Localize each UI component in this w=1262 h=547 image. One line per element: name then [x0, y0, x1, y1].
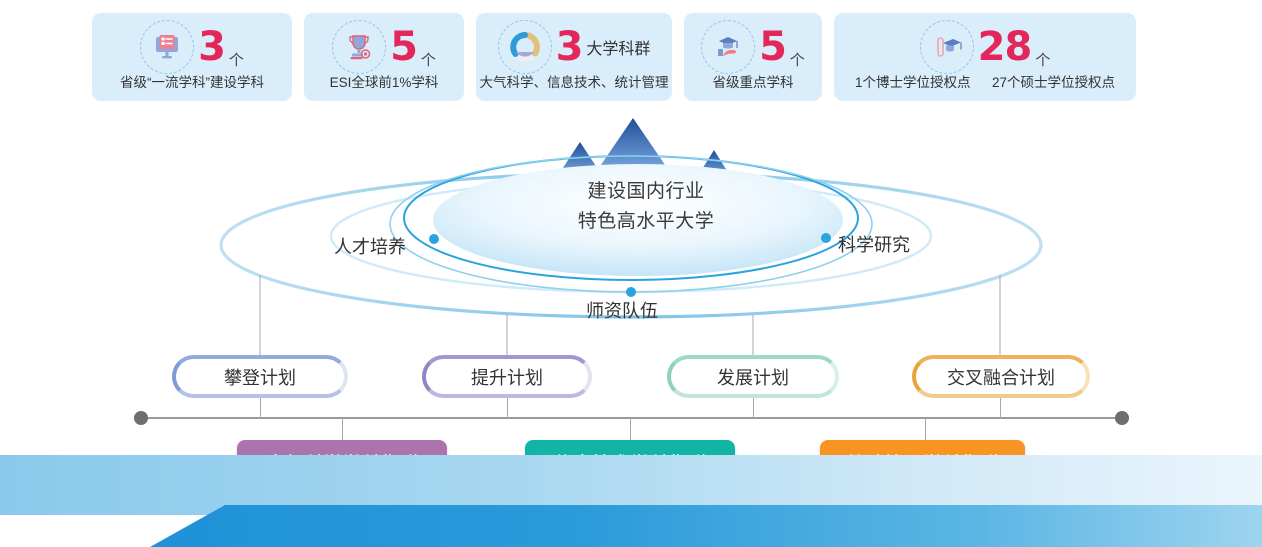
stat-unit: 个 [229, 49, 244, 70]
plan-pill-upgrade[interactable]: 提升计划 [422, 355, 592, 398]
stat-caption: ESI全球前1%学科 [330, 76, 439, 90]
stat-unit: 个 [790, 49, 805, 70]
band-dark-shape [0, 505, 1262, 547]
plan-pill-development[interactable]: 发展计划 [667, 355, 839, 398]
core-vision-line-1: 建设国内行业 [516, 177, 776, 207]
timeline-dot-left [134, 411, 148, 425]
stat-caption: 1个博士学位授权点 27个硕士学位授权点 [855, 76, 1115, 90]
stat-unit: 大学科群 [586, 35, 650, 59]
orbit-label-research: 科学研究 [838, 231, 910, 257]
stat-card-top: 5 个 [701, 19, 805, 75]
stat-unit: 个 [421, 49, 436, 70]
stat-card-row: 3 个 省级“一流学科”建设学科 [92, 13, 1136, 101]
vision-orbit-scene: 建设国内行业 特色高水平大学 人才培养 科学研究 师资队伍 [0, 100, 1262, 360]
orbit-node-faculty [626, 287, 636, 297]
stat-number: 3 [198, 27, 225, 67]
stat-caption: 大气科学、信息技术、统计管理 [480, 76, 669, 90]
orbit-label-faculty: 师资队伍 [586, 297, 658, 323]
stat-caption: 省级“一流学科”建设学科 [120, 76, 264, 90]
stat-card-provincial-key[interactable]: 5 个 省级重点学科 [684, 13, 822, 101]
orbit-node-research [821, 233, 831, 243]
stat-caption-doctoral: 1个博士学位授权点 [855, 75, 971, 90]
stem-plan-2-to-axis [507, 398, 508, 418]
graduation-hand-icon [701, 20, 755, 74]
stem-axis-to-cluster-3 [925, 418, 926, 440]
decorative-band-dark [0, 505, 1262, 547]
stat-number: 5 [390, 27, 417, 67]
trophy-medal-icon [332, 20, 386, 74]
ring-chart-icon [498, 20, 552, 74]
stat-card-top: 3 个 [140, 19, 244, 75]
stat-number: 28 [978, 27, 1032, 67]
timeline-axis [140, 417, 1122, 419]
plan-pill-label: 提升计划 [471, 364, 543, 390]
stat-card-esi-top-1-percent[interactable]: 5 个 ESI全球前1%学科 [304, 13, 464, 101]
stat-caption-master: 27个硕士学位授权点 [992, 75, 1115, 90]
plan-pill-interdisciplinary[interactable]: 交叉融合计划 [912, 355, 1090, 398]
monitor-checklist-icon [140, 20, 194, 74]
stem-plan-3-to-axis [753, 398, 754, 418]
plan-pill-climbing[interactable]: 攀登计划 [172, 355, 348, 398]
orbit-node-talent [429, 234, 439, 244]
diploma-cap-icon [920, 20, 974, 74]
stem-axis-to-cluster-2 [630, 418, 631, 440]
orbit-label-talent: 人才培养 [334, 233, 406, 259]
stat-card-degree-authorization[interactable]: 28 个 1个博士学位授权点 27个硕士学位授权点 [834, 13, 1136, 101]
stat-card-discipline-groups[interactable]: 3 大学科群 大气科学、信息技术、统计管理 [476, 13, 672, 101]
stat-number: 5 [759, 27, 786, 67]
stat-unit: 个 [1035, 49, 1050, 70]
stat-card-top: 5 个 [332, 19, 436, 75]
stat-card-top: 28 个 [920, 19, 1051, 75]
core-vision-line-2: 特色高水平大学 [516, 207, 776, 237]
stem-plan-1-to-axis [260, 398, 261, 418]
stat-number: 3 [556, 27, 583, 67]
core-vision-text: 建设国内行业 特色高水平大学 [516, 177, 776, 237]
stat-card-top: 3 大学科群 [498, 19, 651, 75]
plan-pill-label: 交叉融合计划 [947, 364, 1055, 390]
stat-caption: 省级重点学科 [713, 76, 794, 90]
timeline-dot-right [1115, 411, 1129, 425]
stat-card-provincial-first-class[interactable]: 3 个 省级“一流学科”建设学科 [92, 13, 292, 101]
stem-plan-4-to-axis [1000, 398, 1001, 418]
stem-axis-to-cluster-1 [342, 418, 343, 440]
plan-pill-label: 发展计划 [717, 364, 789, 390]
infographic-canvas: 3 个 省级“一流学科”建设学科 [0, 0, 1262, 547]
plan-pill-label: 攀登计划 [224, 364, 296, 390]
